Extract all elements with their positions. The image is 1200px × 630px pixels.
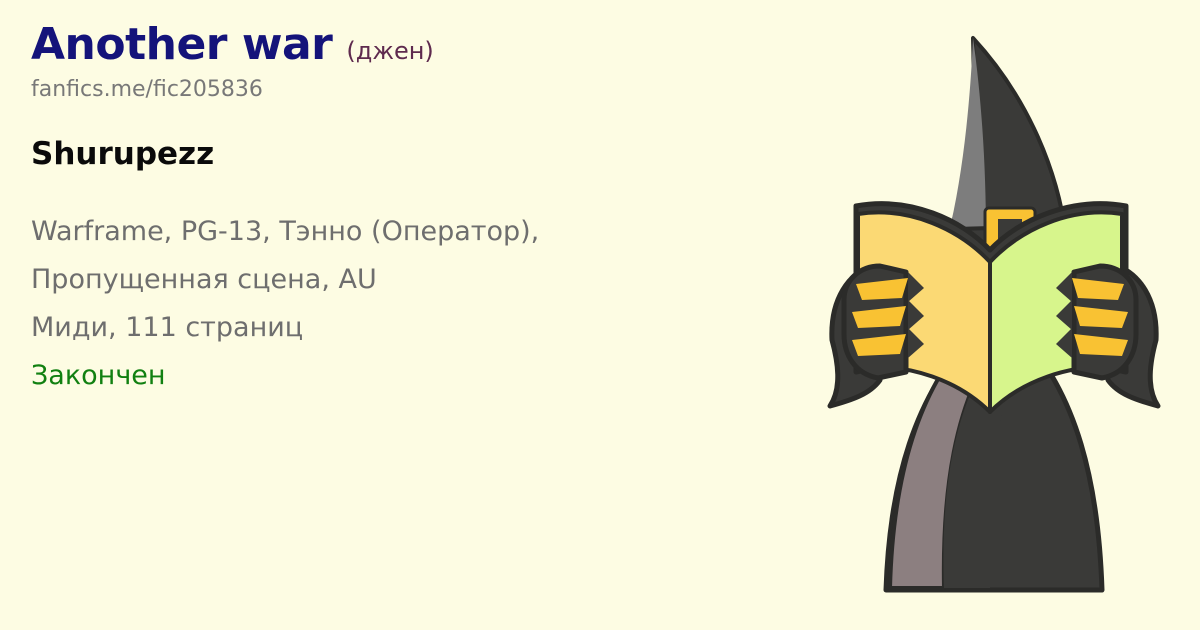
metadata-line-size: Миди, 111 страниц xyxy=(31,304,811,352)
title-row: Another war (джен) xyxy=(31,22,811,68)
witch-reading-book-illustration xyxy=(790,0,1190,630)
source-url[interactable]: fanfics.me/fic205836 xyxy=(31,77,811,102)
social-card: Another war (джен) fanfics.me/fic205836 … xyxy=(0,0,1200,630)
metadata-line-fandom: Warframe, PG-13, Тэнно (Оператор), xyxy=(31,208,811,256)
genre-label: (джен) xyxy=(346,39,433,63)
status-badge: Закончен xyxy=(31,352,811,400)
witch-reading-book-icon xyxy=(790,0,1190,630)
author-name[interactable]: Shurupezz xyxy=(31,136,811,172)
metadata-block: Warframe, PG-13, Тэнно (Оператор), Пропу… xyxy=(31,208,811,400)
page-title: Another war xyxy=(31,22,332,68)
text-column: Another war (джен) fanfics.me/fic205836 … xyxy=(31,22,811,400)
metadata-line-tags: Пропущенная сцена, AU xyxy=(31,256,811,304)
